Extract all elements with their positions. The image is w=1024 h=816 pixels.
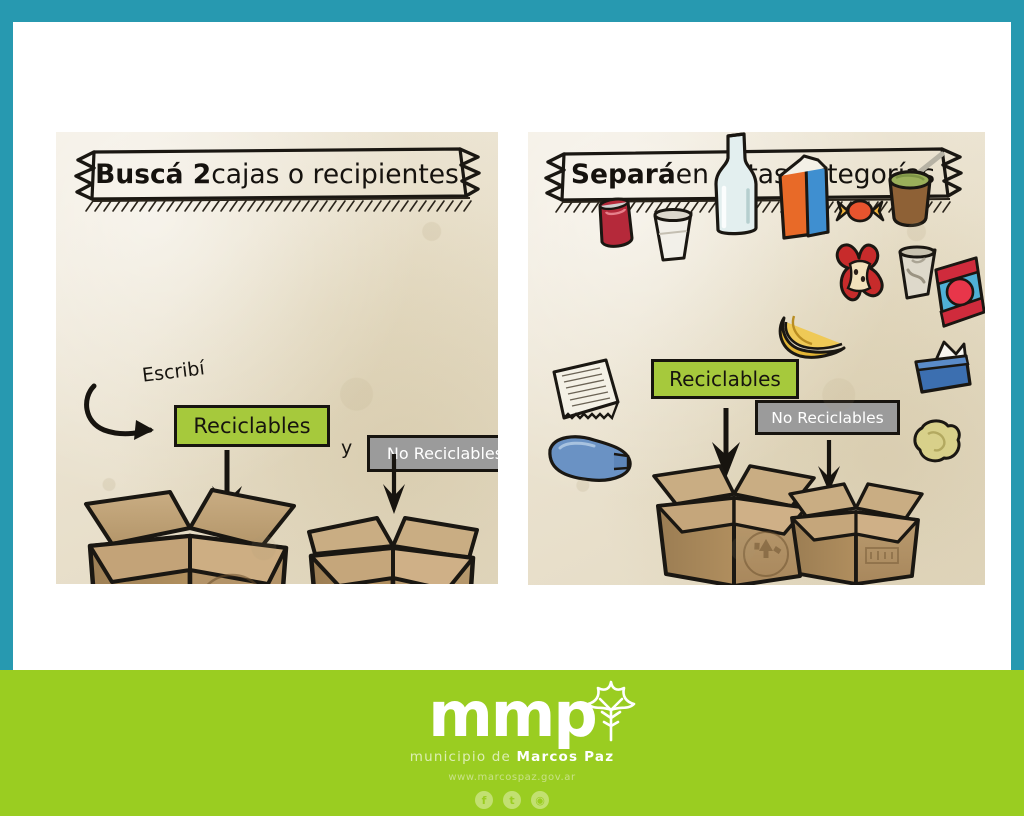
item-banana-peel-icon	[776, 312, 848, 362]
label-reciclables-left: Reciclables	[174, 405, 330, 447]
leaf-icon	[580, 680, 642, 742]
label-reciclables-right: Reciclables	[651, 359, 799, 399]
item-tissue-box-icon	[910, 340, 976, 396]
item-apple-core-icon	[830, 242, 888, 304]
facebook-icon[interactable]: f	[475, 791, 493, 809]
panel-separar-categorias: Separá en estas categorías	[528, 132, 985, 585]
slide-canvas: Buscá 2 cajas o recipientes Escribí Reci…	[0, 0, 1024, 816]
item-mate-gourd-icon	[882, 152, 950, 232]
item-plastic-bottle-icon	[542, 428, 634, 490]
curved-arrow-icon	[82, 380, 162, 450]
mmp-wordmark: mmp	[428, 678, 596, 751]
footer-subtitle-light: municipio de	[410, 749, 517, 765]
logo-row: mmp	[428, 684, 596, 748]
banner-left-title-rest: cajas o recipientes	[211, 159, 459, 190]
slide-border-left	[0, 0, 13, 672]
twitter-icon[interactable]: t	[503, 791, 521, 809]
box-no-reciclables-right	[784, 480, 932, 585]
slide-body: Buscá 2 cajas o recipientes Escribí Reci…	[13, 22, 1011, 672]
box-no-reciclables-left	[301, 506, 489, 584]
banner-right-title-bold: Separá	[571, 159, 676, 190]
label-no-reciclables-right: No Reciclables	[755, 400, 900, 435]
item-snack-bag-icon	[928, 254, 985, 330]
slide-border-top	[0, 0, 1024, 22]
item-candy-wrapper-icon	[836, 194, 884, 228]
banner-left: Buscá 2 cajas o recipientes	[68, 144, 486, 216]
item-soda-can-icon	[594, 192, 636, 254]
footer-url[interactable]: www.marcospaz.gov.ar	[0, 772, 1024, 783]
banner-left-title: Buscá 2 cajas o recipientes	[68, 144, 486, 216]
item-used-tissue-icon	[912, 418, 964, 466]
banner-left-title-bold: Buscá 2	[95, 159, 211, 190]
footer-social-links: f t ◉	[0, 791, 1024, 809]
instagram-icon[interactable]: ◉	[531, 791, 549, 809]
footer-logo-block: mmp municipio de Marcos Paz www.marcospa…	[0, 684, 1024, 809]
footer-subtitle: municipio de Marcos Paz	[0, 749, 1024, 765]
item-milk-carton-icon	[774, 154, 834, 242]
conjunction-y: y	[341, 437, 352, 459]
item-newspaper-icon	[548, 356, 624, 422]
footer-band: mmp municipio de Marcos Paz www.marcospa…	[0, 670, 1024, 816]
panel-buscar-cajas: Buscá 2 cajas o recipientes Escribí Reci…	[56, 132, 498, 584]
slide-border-right	[1011, 0, 1024, 672]
item-paper-cup-icon	[650, 208, 696, 264]
item-glass-bottle-icon	[710, 132, 762, 240]
box-reciclables-left	[72, 484, 308, 584]
footer-subtitle-bold: Marcos Paz	[517, 749, 615, 765]
